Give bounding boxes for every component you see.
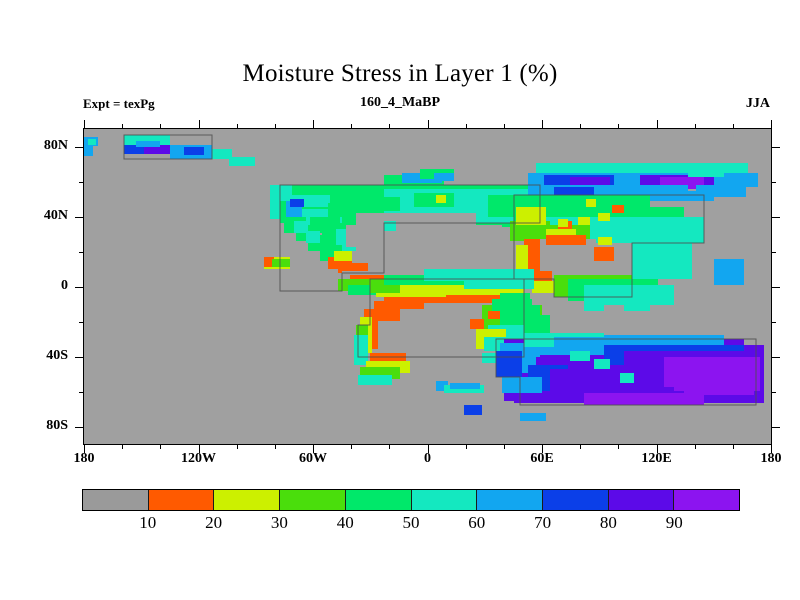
x-tick-top-0 (428, 120, 429, 129)
experiment-label: Expt = texPg (83, 96, 155, 112)
x-axis-label-180W: 180 (49, 451, 119, 467)
moisture-stress-heatmap (84, 129, 771, 444)
x-tick-80E (580, 444, 581, 449)
x-tick-top-60W (313, 120, 314, 129)
y-tick-20S (79, 322, 84, 323)
x-tick-160E (733, 444, 734, 449)
colorbar-label-10: 10 (118, 513, 178, 533)
x-tick-top-160W (122, 124, 123, 129)
colorbar-label-50: 50 (381, 513, 441, 533)
y-tick-right-40N (771, 217, 780, 218)
y-tick-right-60N (771, 182, 776, 183)
x-axis-label-0: 0 (393, 451, 463, 467)
x-tick-40W (351, 444, 352, 449)
x-axis-label-60W: 60W (278, 451, 348, 467)
y-tick-right-60S (771, 392, 776, 393)
y-tick-right-40S (771, 357, 780, 358)
x-tick-140E (695, 444, 696, 449)
colorbar-label-40: 40 (315, 513, 375, 533)
y-tick-80S (75, 427, 84, 428)
y-axis-label-40S: 40S (22, 348, 68, 364)
y-tick-right-80N (771, 147, 780, 148)
y-tick-right-20S (771, 322, 776, 323)
y-tick-right-20N (771, 252, 776, 253)
figure-root: Moisture Stress in Layer 1 (%) 160_4_MaB… (0, 0, 800, 600)
x-tick-160W (122, 444, 123, 449)
x-tick-top-40E (504, 124, 505, 129)
y-tick-0 (75, 287, 84, 288)
y-tick-80N (75, 147, 84, 148)
x-tick-top-120W (199, 120, 200, 129)
y-tick-60N (79, 182, 84, 183)
colorbar-bands (82, 489, 740, 511)
y-tick-right-80S (771, 427, 780, 428)
x-tick-100W (237, 444, 238, 449)
x-tick-100E (618, 444, 619, 449)
colorbar-band-40-50 (346, 490, 412, 510)
colorbar-label-60: 60 (447, 513, 507, 533)
y-axis-label-0: 0 (22, 278, 68, 294)
colorbar-band-0-10 (83, 490, 149, 510)
season-label: JJA (746, 96, 770, 112)
x-tick-top-100W (237, 124, 238, 129)
map-plot-area: 80N 40N 0 40S 80S (83, 128, 772, 445)
colorbar-label-30: 30 (249, 513, 309, 533)
x-tick-140W (160, 444, 161, 449)
y-tick-20N (79, 252, 84, 253)
colorbar: 10 20 30 40 50 60 70 80 90 (82, 489, 740, 511)
x-tick-top-160E (733, 124, 734, 129)
x-tick-20W (389, 444, 390, 449)
x-tick-40E (504, 444, 505, 449)
colorbar-band-30-40 (280, 490, 346, 510)
x-tick-top-140W (160, 124, 161, 129)
x-tick-top-20E (466, 124, 467, 129)
x-axis-label-120W: 120W (164, 451, 234, 467)
x-axis-label-60E: 60E (507, 451, 577, 467)
x-tick-20E (466, 444, 467, 449)
colorbar-label-70: 70 (513, 513, 573, 533)
colorbar-band-70-80 (543, 490, 609, 510)
x-tick-top-120E (657, 120, 658, 129)
x-tick-top-180W (84, 120, 85, 129)
x-tick-top-80E (580, 124, 581, 129)
colorbar-band-90-100 (674, 490, 739, 510)
colorbar-band-50-60 (412, 490, 478, 510)
colorbar-band-60-70 (477, 490, 543, 510)
y-axis-label-80N: 80N (22, 138, 68, 154)
x-tick-80W (275, 444, 276, 449)
colorbar-band-10-20 (149, 490, 215, 510)
x-tick-top-20W (389, 124, 390, 129)
x-tick-top-100E (618, 124, 619, 129)
x-tick-top-40W (351, 124, 352, 129)
y-axis-label-40N: 40N (22, 208, 68, 224)
y-tick-40N (75, 217, 84, 218)
y-axis-label-80S: 80S (22, 418, 68, 434)
y-tick-60S (79, 392, 84, 393)
x-tick-top-140E (695, 124, 696, 129)
colorbar-label-20: 20 (184, 513, 244, 533)
colorbar-label-90: 90 (644, 513, 704, 533)
y-tick-right-0 (771, 287, 780, 288)
colorbar-band-20-30 (214, 490, 280, 510)
x-tick-top-80W (275, 124, 276, 129)
x-tick-top-60E (542, 120, 543, 129)
y-tick-40S (75, 357, 84, 358)
page-title: Moisture Stress in Layer 1 (%) (0, 60, 800, 88)
x-tick-top-180E (771, 120, 772, 129)
colorbar-band-80-90 (609, 490, 675, 510)
x-axis-label-180E: 180 (736, 451, 800, 467)
colorbar-label-80: 80 (578, 513, 638, 533)
x-axis-label-120E: 120E (622, 451, 692, 467)
